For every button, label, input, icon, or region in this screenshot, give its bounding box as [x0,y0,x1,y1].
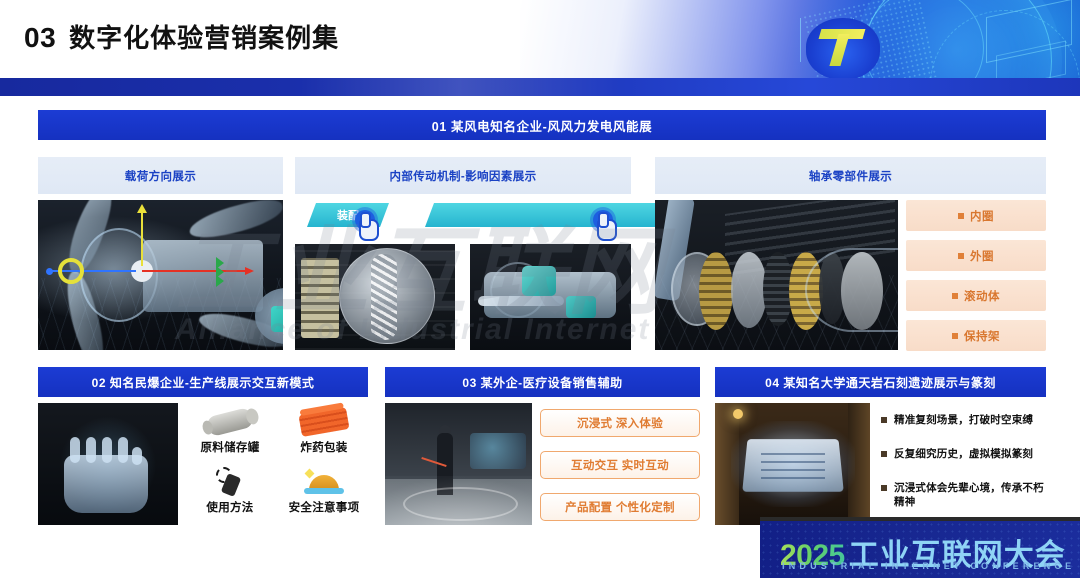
bullet-square-icon [881,417,887,423]
vr-hand-finger [102,437,112,463]
item-usage-method[interactable]: 使用方法 [186,465,274,525]
bullet-item: 反复细究历史，虚拟模拟篆刻 [881,447,1046,461]
production-line-icon-grid: 原料储存罐 炸药包装 使用方法 安全注意事项 [186,403,368,525]
mechanism-teal-part-a [522,266,556,296]
turbine-blade [186,200,283,243]
bullet-square-icon [958,213,964,219]
bearing-ring [731,252,767,328]
sublabel-load-direction-text: 载荷方向展示 [125,168,196,184]
feature-button-immersive-label: 沉浸式 深入体验 [577,415,663,431]
feature-button-immersive[interactable]: 沉浸式 深入体验 [540,409,700,437]
section-02-panel: 原料储存罐 炸药包装 使用方法 安全注意事项 [38,403,368,525]
feature-button-customization-label: 产品配置 个性化定制 [565,499,675,515]
section-01-heading: 01 某风电知名企业-风风力发电风能展 [38,110,1046,140]
sublabel-internal-mechanism-text: 内部传动机制-影响因素展示 [389,168,536,184]
vr-hand-interaction-image [38,403,178,525]
explosive-package-icon [280,405,368,439]
clinic-floor-ring [403,487,518,521]
turbine-teal-part [271,306,283,332]
sublabel-internal-mechanism: 内部传动机制-影响因素展示 [295,157,631,194]
bullet-item-text: 反复细究历史，虚拟模拟篆刻 [894,447,1033,461]
section-02-heading: 02 知名民爆企业-生产线展示交互新模式 [38,367,368,397]
bullet-square-icon [881,485,887,491]
bullet-item: 沉浸式体会先辈心境，传承不朽精神 [881,481,1046,509]
feature-button-customization[interactable]: 产品配置 个性化定制 [540,493,700,521]
bearing-ring [699,252,733,330]
item-storage-tank-label: 原料储存罐 [186,439,274,455]
bearing-components-image [655,200,898,350]
gear-braid-texture [371,254,397,340]
item-explosive-package[interactable]: 炸药包装 [280,405,368,465]
mechanism-teal-part-b [566,296,596,318]
vr-hand-thumb [132,447,142,465]
section-04-panel: 精准复刻场景，打破时空束缚 反复细究历史，虚拟模拟篆刻 沉浸式体会先辈心境，传承… [715,403,1046,525]
axis-chevron-green-icon [216,256,238,286]
bullet-item-text: 沉浸式体会先辈心境，传承不朽精神 [894,481,1046,509]
section-02-heading-label: 02 知名民爆企业-生产线展示交互新模式 [92,374,315,391]
mechanism-arm [478,296,564,306]
bullet-square-icon [952,333,958,339]
storage-tank-icon [186,405,274,439]
feature-button-interactive-label: 互动交互 实时互动 [571,457,669,473]
slide-header: 03 数字化体验营销案例集 [0,0,1080,96]
vr-hand-finger [86,437,96,463]
item-storage-tank[interactable]: 原料储存罐 [186,405,274,465]
medical-feature-button-list: 沉浸式 深入体验 互动交互 实时互动 产品配置 个性化定制 [540,407,700,521]
bearing-part-outer-ring-label: 外圈 [970,248,994,264]
fuse-detonator-icon [186,465,274,499]
bearing-part-inner-ring-label: 内圈 [970,208,994,224]
section-03-heading-label: 03 某外企-医疗设备销售辅助 [462,374,622,391]
clinic-display-screen [470,433,526,469]
footer-name-en: INDUSTRIAL INTERNET CONFERENCE [782,561,1075,571]
axis-arrow-yellow-icon [141,206,143,266]
bearing-parts-list: 内圈 外圈 滚动体 保持架 [906,200,1046,350]
clinic-demo-room-image [385,403,532,525]
turbine-nacelle-body [143,240,263,312]
bullet-square-icon [958,253,964,259]
bearing-part-rolling-element-label: 滚动体 [964,288,1000,304]
section-03-panel: 沉浸式 深入体验 互动交互 实时互动 产品配置 个性化定制 [385,403,700,525]
bearing-part-rolling-element[interactable]: 滚动体 [906,280,1046,311]
gear-roller-rows [301,258,339,338]
item-safety-notes[interactable]: 安全注意事项 [280,465,368,525]
safety-helmet-icon [280,465,368,499]
feature-button-interactive[interactable]: 互动交互 实时互动 [540,451,700,479]
vr-hand-finger [118,437,128,463]
sublabel-bearing-parts: 轴承零部件展示 [655,157,1046,194]
conference-footer-logo: 2025 工业互联网大会 INDUSTRIAL INTERNET CONFERE… [760,521,1080,578]
axis-rotation-ring-icon [58,258,84,284]
vr-hand-shape [64,455,148,513]
vr-hand-finger [70,437,80,463]
item-usage-method-label: 使用方法 [186,499,274,515]
bullet-square-icon [952,293,958,299]
page-title-text: 数字化体验营销案例集 [69,18,339,55]
wind-turbine-nacelle-image [38,200,283,350]
cursor-hand-icon [353,210,383,242]
section-03-heading: 03 某外企-医疗设备销售辅助 [385,367,700,397]
bullet-square-icon [881,451,887,457]
section-04-heading-label: 04 某知名大学通天岩石刻遗迹展示与篆刻 [765,374,996,391]
slide-root: 03 数字化体验营销案例集 01 某风电知名企业-风风力发电风能展 载荷方向展示… [0,0,1080,578]
sublabel-load-direction: 载荷方向展示 [38,157,283,194]
bullet-item-text: 精准复刻场景，打破时空束缚 [894,413,1033,427]
bearing-highlight-arc [805,248,898,332]
bearing-gear-closeup-image [295,244,455,350]
stone-carving-text-lines [761,449,825,479]
stone-lamp-icon [733,409,743,419]
stone-carving-projection-image [715,403,870,525]
conference-t-logo-icon [806,18,880,80]
item-safety-notes-label: 安全注意事项 [280,499,368,515]
item-explosive-package-label: 炸药包装 [280,439,368,455]
bullet-item: 精准复刻场景，打破时空束缚 [881,413,1046,427]
page-title-number: 03 [24,22,56,54]
mechanism-pill-row: 装配 游隙 润滑 [295,200,631,240]
bearing-part-outer-ring[interactable]: 外圈 [906,240,1046,271]
gearbox-mechanism-image [470,244,631,350]
page-title: 03 数字化体验营销案例集 [24,18,339,55]
cursor-hand-icon [591,210,621,242]
header-bar-sheen [300,78,620,96]
section-01-heading-label: 01 某风电知名企业-风风力发电风能展 [432,116,652,135]
sublabel-bearing-parts-text: 轴承零部件展示 [809,168,892,184]
bearing-part-inner-ring[interactable]: 内圈 [906,200,1046,231]
bearing-part-cage-label: 保持架 [964,328,1000,344]
stone-carving-bullet-list: 精准复刻场景，打破时空束缚 反复细究历史，虚拟模拟篆刻 沉浸式体会先辈心境，传承… [881,409,1046,521]
section-04-heading: 04 某知名大学通天岩石刻遗迹展示与篆刻 [715,367,1046,397]
bearing-part-cage[interactable]: 保持架 [906,320,1046,351]
